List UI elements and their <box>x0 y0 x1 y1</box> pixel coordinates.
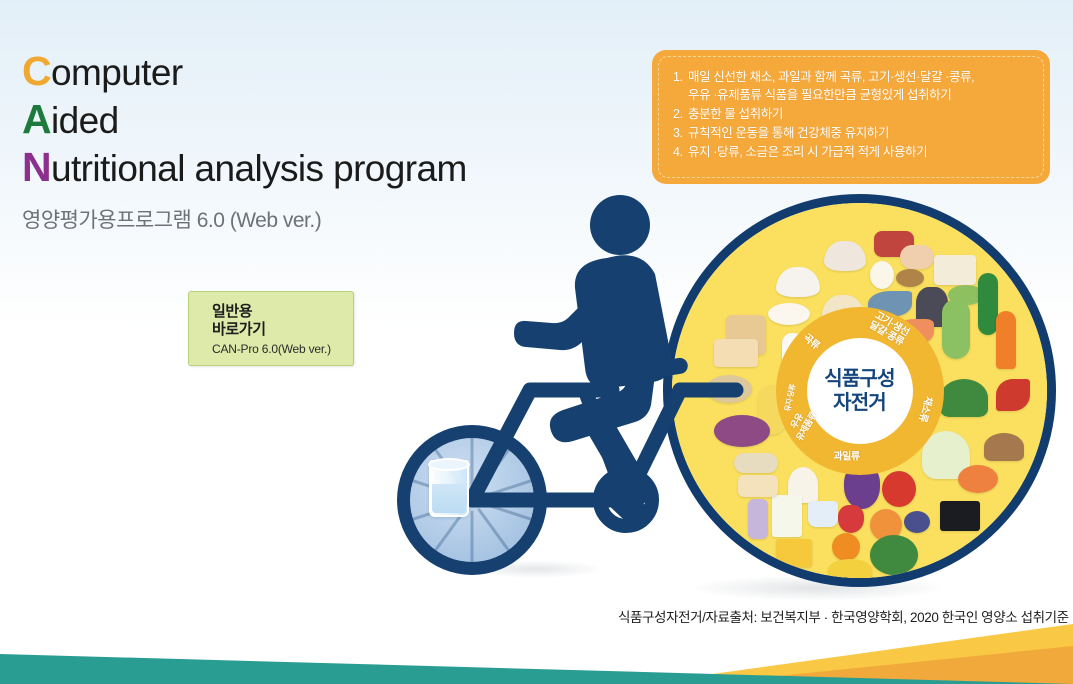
guideline-number: 1. <box>673 68 688 104</box>
title-rest-nutritional: utritional analysis program <box>51 148 467 189</box>
shortcut-label-line2: 바로가기 <box>212 321 353 339</box>
title-line-aided: Aided <box>22 96 467 144</box>
bottom-decoration <box>0 624 1073 684</box>
guideline-text-line1: 유지 ·당류, 소금은 조리 시 가급적 적게 사용하기 <box>688 143 1029 161</box>
guideline-text-line1: 매일 신선한 채소, 과일과 함께 곡류, 고기·생선·달걀 ·콩류, <box>688 70 974 84</box>
guideline-item: 4. 유지 ·당류, 소금은 조리 시 가급적 적게 사용하기 <box>673 143 1029 161</box>
segment-label-fruits: 과일류 <box>833 452 859 463</box>
poster-page: Computer Aided Nutritional analysis prog… <box>0 0 1073 684</box>
dietary-guidelines-inner: 1. 매일 신선한 채소, 과일과 함께 곡류, 고기·생선·달걀 ·콩류, 우… <box>658 56 1044 178</box>
title-initial-a: A <box>22 96 51 142</box>
source-caption: 식품구성자전거/자료출처: 보건복지부 · 한국영양학회, 2020 한국인 영… <box>618 606 1069 626</box>
guideline-text-line1: 충분한 물 섭취하기 <box>688 105 1029 123</box>
title-line-computer: Computer <box>22 48 467 96</box>
guideline-text-line1: 규칙적인 운동을 통해 건강체중 유지하기 <box>688 124 1029 142</box>
center-label-line2: 자전거 <box>833 391 886 415</box>
center-label-line1: 식품구성 <box>824 367 894 391</box>
food-balance-bicycle-illustration: 식품구성 자전거 곡류 고기·생선달걀·콩류 채소류 과일류 우유유제품류 유지… <box>380 185 1073 605</box>
guideline-item: 2. 충분한 물 섭취하기 <box>673 105 1029 123</box>
cyclist-figure <box>514 195 689 522</box>
guideline-number: 2. <box>673 105 688 123</box>
shortcut-label-line1: 일반용 <box>212 303 353 321</box>
guideline-number: 4. <box>673 143 688 161</box>
shortcut-button-general[interactable]: 일반용 바로가기 CAN-Pro 6.0(Web ver.) <box>188 291 354 366</box>
guideline-text: 매일 신선한 채소, 과일과 함께 곡류, 고기·생선·달걀 ·콩류, 우유 ·… <box>688 68 1029 104</box>
title-initial-c: C <box>22 48 51 94</box>
title-rest-computer: omputer <box>51 52 183 93</box>
title-initial-n: N <box>22 144 51 190</box>
food-wheel-center-label: 식품구성 자전거 <box>807 338 913 444</box>
water-glass-icon <box>429 460 469 517</box>
cyclist-and-frame <box>380 185 1073 605</box>
guideline-item: 3. 규칙적인 운동을 통해 건강체중 유지하기 <box>673 124 1029 142</box>
guideline-text-line2: 우유 ·유제품류 식품을 필요한만큼 균형있게 섭취하기 <box>688 86 1029 104</box>
shortcut-sublabel: CAN-Pro 6.0(Web ver.) <box>212 342 353 356</box>
dietary-guidelines-box: 1. 매일 신선한 채소, 과일과 함께 곡류, 고기·생선·달걀 ·콩류, 우… <box>652 50 1050 184</box>
guideline-item: 1. 매일 신선한 채소, 과일과 함께 곡류, 고기·생선·달걀 ·콩류, 우… <box>673 68 1029 104</box>
guideline-number: 3. <box>673 124 688 142</box>
title-rest-aided: ided <box>51 100 119 141</box>
